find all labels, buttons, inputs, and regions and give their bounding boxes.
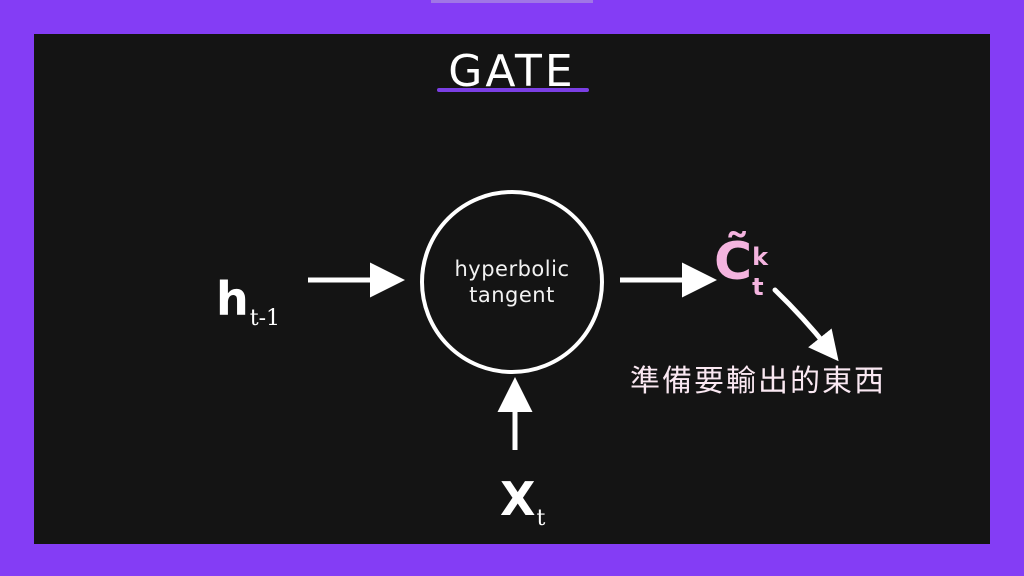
- label-candidate-superscript: k: [752, 243, 768, 271]
- label-candidate-cell-state: C̃kt: [714, 232, 780, 292]
- activation-node-label: hyperbolic tangent: [454, 256, 569, 308]
- slide-canvas: GATE: [0, 0, 1024, 576]
- activation-node-circle: hyperbolic tangent: [420, 190, 604, 374]
- label-hidden-state: ht-1: [216, 272, 279, 326]
- label-candidate-subscript: t: [752, 273, 763, 301]
- diagram-panel: GATE: [34, 34, 990, 544]
- top-edge-band: [431, 0, 593, 3]
- label-input-vector: Xt: [500, 472, 544, 526]
- annotation-text: 準備要輸出的東西: [630, 356, 886, 400]
- label-input-vector-subscript: t: [536, 506, 545, 531]
- label-hidden-state-base: h: [216, 272, 249, 326]
- label-hidden-state-subscript: t-1: [250, 306, 280, 331]
- label-candidate-base: C̃: [714, 232, 752, 292]
- label-input-vector-base: X: [500, 472, 535, 526]
- arrow-output-to-note: [775, 290, 828, 348]
